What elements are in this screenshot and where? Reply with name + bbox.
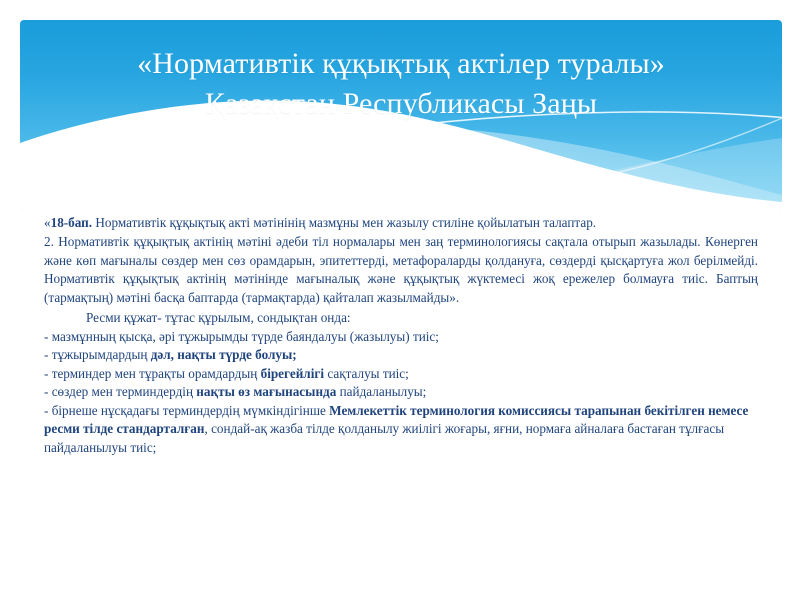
bullet-list: - мазмұнның қысқа, әрі тұжырымды түрде б… xyxy=(44,328,758,457)
list-item: - бірнеше нұсқадағы терминдердің мүмкінд… xyxy=(44,402,758,457)
plain-text: - мазмұнның қысқа, әрі тұжырымды түрде б… xyxy=(44,329,439,344)
plain-text: - тұжырымдардың xyxy=(44,347,151,362)
plain-text: сақталуы тиіс; xyxy=(324,366,409,381)
title-banner: «Нормативтік құқықтық актілер туралы» Қа… xyxy=(20,20,782,212)
emphasis-text: нақты өз мағынасында xyxy=(196,384,336,399)
emphasis-text: бірегейлігі xyxy=(261,366,324,381)
slide-body: «18-бап. Нормативтік құқықтық акті мәтін… xyxy=(44,214,758,457)
list-item: - терминдер мен тұрақты орамдардың бірег… xyxy=(44,365,758,383)
lead-in-line: Ресми құжат- тұтас құрылым, сондықтан он… xyxy=(44,309,758,327)
plain-text: - терминдер мен тұрақты орамдардың xyxy=(44,366,261,381)
article-heading: «18-бап. Нормативтік құқықтық акті мәтін… xyxy=(44,214,758,232)
article-number: 18-бап. xyxy=(51,215,93,230)
plain-text: пайдаланылуы; xyxy=(336,384,426,399)
quote-open: « xyxy=(44,215,51,230)
article-heading-text: Нормативтік құқықтық акті мәтінінің мазм… xyxy=(95,215,596,230)
plain-text: - сөздер мен терминдердің xyxy=(44,384,196,399)
emphasis-text: дәл, нақты түрде болуы; xyxy=(151,347,297,362)
plain-text: - бірнеше нұсқадағы терминдердің мүмкінд… xyxy=(44,403,329,418)
list-item: - тұжырымдардың дәл, нақты түрде болуы; xyxy=(44,346,758,364)
title-line-2: Қазақстан Республикасы Заңы xyxy=(20,84,782,124)
title-line-1: «Нормативтік құқықтық актілер туралы» xyxy=(20,44,782,84)
page-title: «Нормативтік құқықтық актілер туралы» Қа… xyxy=(20,20,782,123)
clause-2-paragraph: 2. Нормативтік құқықтық актінің мәтіні ә… xyxy=(44,233,758,307)
list-item: - мазмұнның қысқа, әрі тұжырымды түрде б… xyxy=(44,328,758,346)
list-item: - сөздер мен терминдердің нақты өз мағын… xyxy=(44,383,758,401)
slide-root: «Нормативтік құқықтық актілер туралы» Қа… xyxy=(0,0,800,600)
